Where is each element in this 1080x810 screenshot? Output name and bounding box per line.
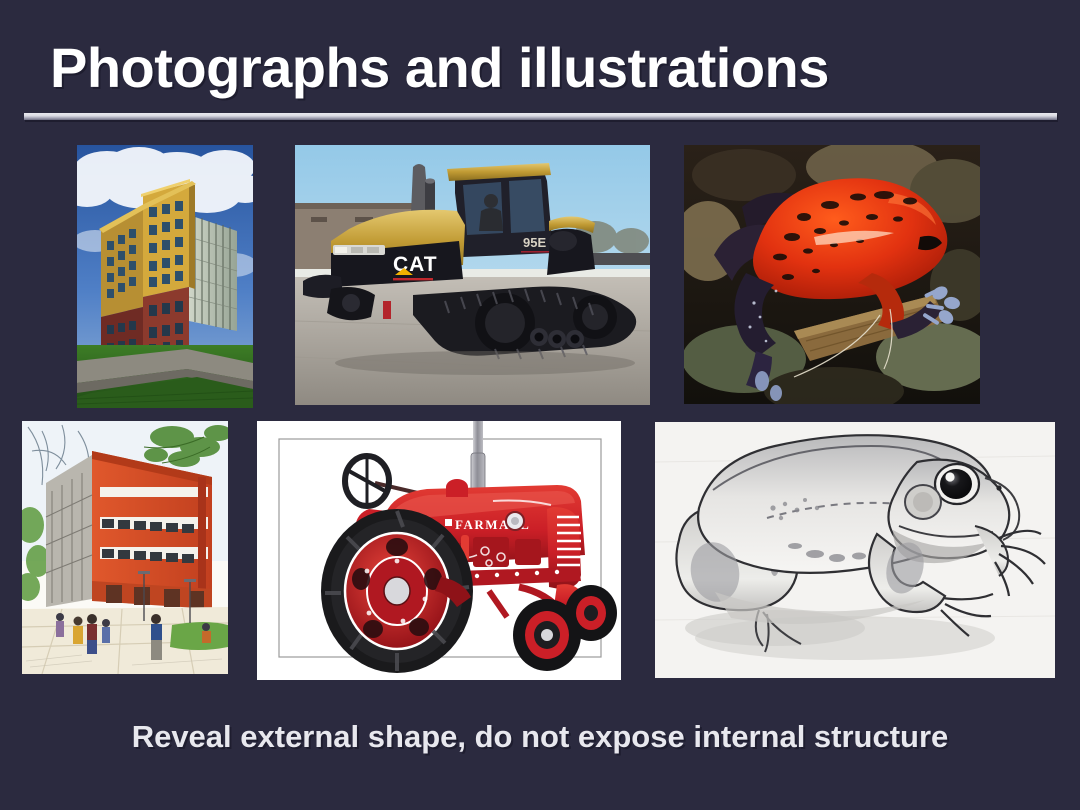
poison-dart-frog-artwork (684, 145, 980, 404)
building-photo-artwork (77, 145, 253, 408)
architectural-rendering (22, 421, 228, 674)
poison-dart-frog-photo (684, 145, 980, 404)
slide-caption: Reveal external shape, do not expose int… (0, 715, 1080, 759)
cat-tractor-artwork: CAT 95E (295, 145, 650, 405)
frog-pencil-drawing (655, 422, 1055, 678)
title-divider (24, 113, 1057, 120)
svg-text:95E: 95E (523, 235, 546, 250)
farmall-tractor-illustration: FARMALL H-M (257, 421, 621, 680)
page-title: Photographs and illustrations (50, 33, 1050, 103)
farmall-tractor-artwork: FARMALL H-M (257, 421, 621, 680)
frog-pencil-drawing-artwork (655, 422, 1055, 678)
architectural-rendering-artwork (22, 421, 228, 674)
building-photo (77, 145, 253, 408)
cat-tractor-photo: CAT 95E (295, 145, 650, 405)
